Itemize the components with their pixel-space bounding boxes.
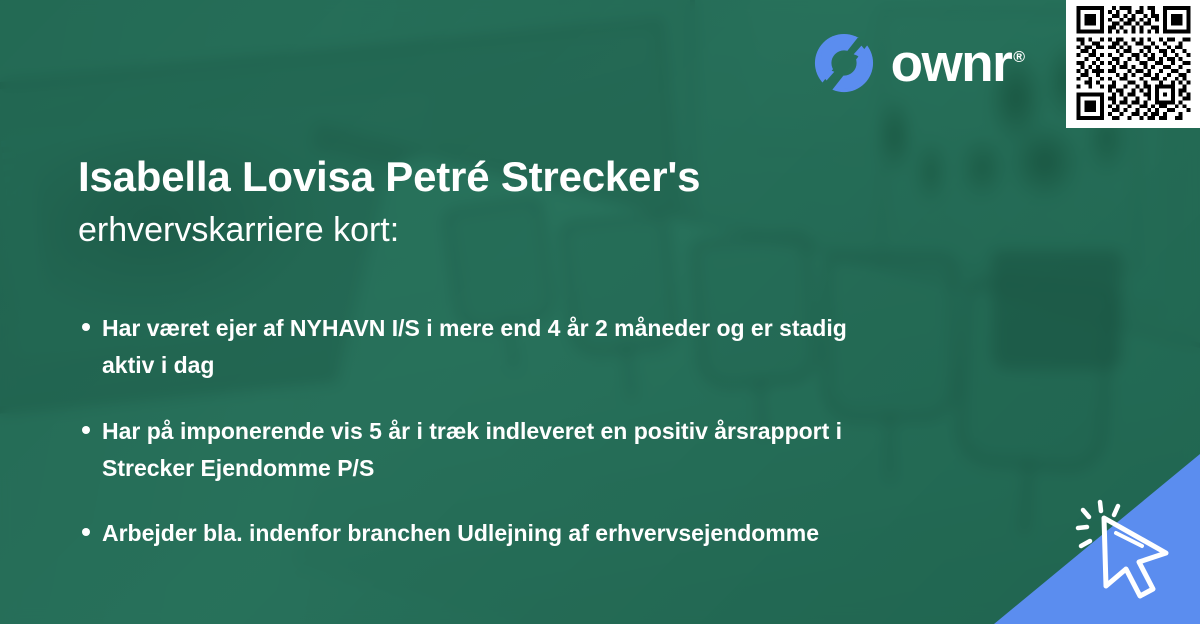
list-item: Har på imponerende vis 5 år i træk indle… (78, 413, 978, 488)
ownr-wordmark-text: ownr (891, 34, 1012, 93)
list-item: Har været ejer af NYHAVN I/S i mere end … (78, 310, 978, 385)
ownr-career-card: ownr® Isabella Lovisa Petré Strecker's e… (0, 0, 1200, 624)
headline-line-1: Isabella Lovisa Petré Strecker's (78, 152, 958, 202)
registered-trademark-symbol: ® (1013, 49, 1025, 66)
qr-code[interactable] (1066, 0, 1200, 128)
page-title: Isabella Lovisa Petré Strecker's erhverv… (78, 152, 958, 252)
ownr-wordmark: ownr® (891, 37, 1025, 90)
list-item-label: Har været ejer af NYHAVN I/S i mere end … (102, 310, 862, 385)
list-item-label: Har på imponerende vis 5 år i træk indle… (102, 413, 862, 488)
list-item-label: Arbejder bla. indenfor branchen Udlejnin… (102, 515, 819, 552)
bullet-dot-icon (82, 426, 90, 434)
bullet-dot-icon (82, 323, 90, 331)
corner-accent (994, 454, 1200, 624)
bullet-dot-icon (82, 528, 90, 536)
list-item: Arbejder bla. indenfor branchen Udlejnin… (78, 515, 978, 552)
ownr-logo[interactable]: ownr® (813, 32, 1025, 94)
qr-code-icon (1074, 6, 1193, 120)
click-cursor-icon (1070, 490, 1190, 610)
ownr-circle-slash-icon (813, 32, 875, 94)
headline-line-2: erhvervskarriere kort: (78, 208, 958, 252)
career-highlights-list: Har været ejer af NYHAVN I/S i mere end … (78, 310, 978, 552)
